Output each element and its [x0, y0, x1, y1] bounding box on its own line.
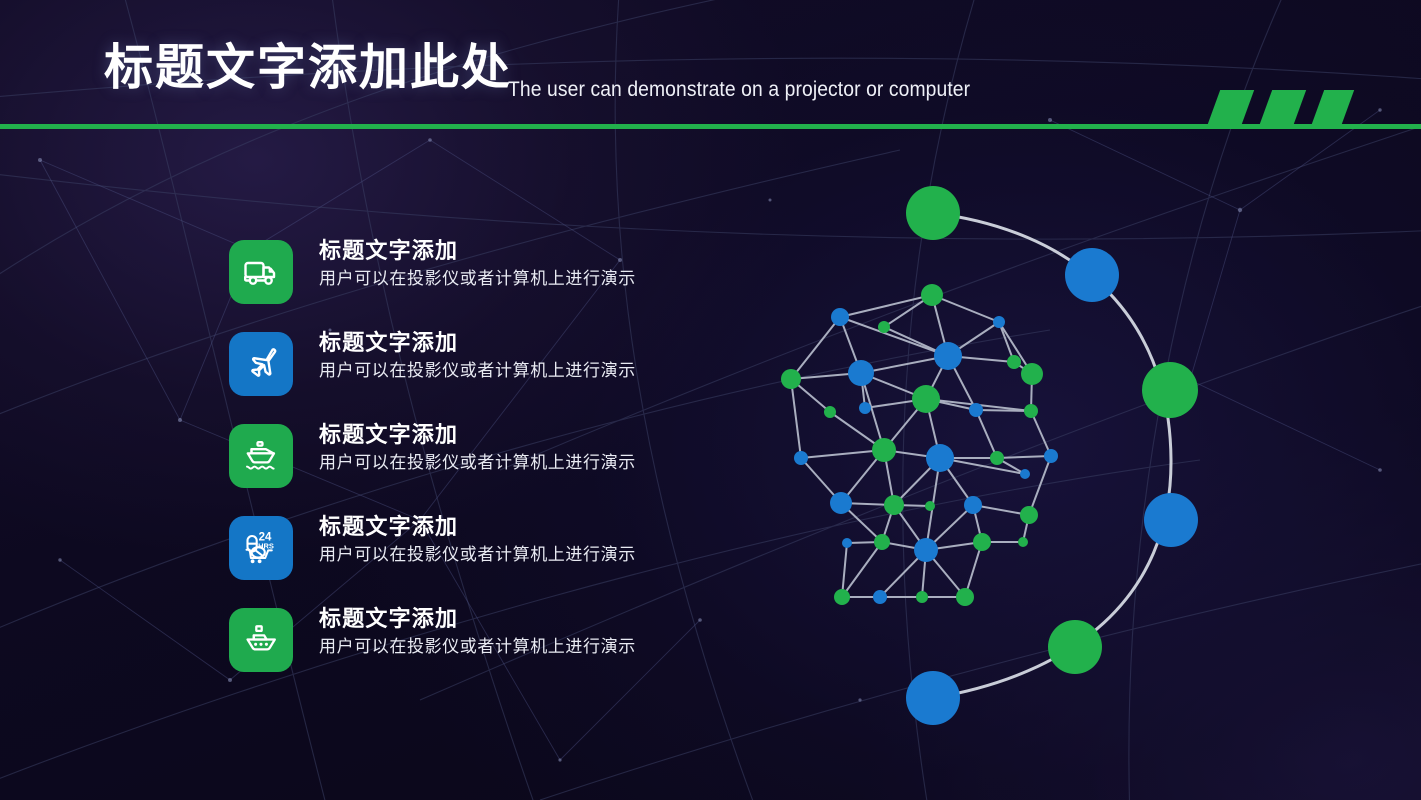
- cargo-ship-icon: [229, 424, 293, 488]
- network-mesh-diagram: [770, 160, 1250, 740]
- feature-description: 用户可以在投影仪或者计算机上进行演示: [319, 358, 749, 384]
- stripe-1: [1208, 90, 1254, 124]
- feature-text: 标题文字添加 用户可以在投影仪或者计算机上进行演示: [319, 420, 749, 476]
- feature-text: 标题文字添加 用户可以在投影仪或者计算机上进行演示: [319, 604, 749, 660]
- feature-description: 用户可以在投影仪或者计算机上进行演示: [319, 542, 749, 568]
- feature-description: 用户可以在投影仪或者计算机上进行演示: [319, 634, 749, 660]
- mesh-nodes: [781, 284, 1058, 606]
- feature-title: 标题文字添加: [319, 328, 749, 358]
- list-item[interactable]: 标题文字添加 用户可以在投影仪或者计算机上进行演示: [229, 424, 749, 488]
- delivery-truck-icon: [229, 240, 293, 304]
- stripe-2: [1260, 90, 1306, 124]
- list-item[interactable]: 标题文字添加 用户可以在投影仪或者计算机上进行演示: [229, 240, 749, 304]
- stripe-3: [1312, 90, 1354, 124]
- page-title: 标题文字添加此处: [104, 44, 512, 93]
- list-item[interactable]: 标题文字添加 用户可以在投影仪或者计算机上进行演示: [229, 608, 749, 672]
- airplane-icon: [229, 332, 293, 396]
- feature-text: 标题文字添加 用户可以在投影仪或者计算机上进行演示: [319, 328, 749, 384]
- list-item[interactable]: 24 HRS 标题文字添加 用户可以在投影仪或者计算机上进行演示: [229, 516, 749, 580]
- feature-text: 标题文字添加 用户可以在投影仪或者计算机上进行演示: [319, 512, 749, 568]
- presentation-slide: 标题文字添加此处 The user can demonstrate on a p…: [0, 0, 1421, 800]
- badge-hrs-text: HRS: [258, 542, 274, 551]
- header-stripes-decoration: [1214, 90, 1374, 124]
- feature-text: 标题文字添加 用户可以在投影仪或者计算机上进行演示: [319, 236, 749, 292]
- header-divider: [0, 124, 1421, 129]
- feature-title: 标题文字添加: [319, 236, 749, 266]
- feature-title: 标题文字添加: [319, 604, 749, 634]
- list-item[interactable]: 标题文字添加 用户可以在投影仪或者计算机上进行演示: [229, 332, 749, 396]
- feature-title: 标题文字添加: [319, 420, 749, 450]
- feature-title: 标题文字添加: [319, 512, 749, 542]
- 24hrs-pharmacy-cart-icon: 24 HRS: [229, 516, 293, 580]
- page-subtitle: The user can demonstrate on a projector …: [508, 78, 970, 102]
- feature-description: 用户可以在投影仪或者计算机上进行演示: [319, 450, 749, 476]
- feature-description: 用户可以在投影仪或者计算机上进行演示: [319, 266, 749, 292]
- feature-list: 标题文字添加 用户可以在投影仪或者计算机上进行演示 标题文字添加 用户可以在投影…: [229, 240, 749, 700]
- boat-icon: [229, 608, 293, 672]
- slide-header: 标题文字添加此处 The user can demonstrate on a p…: [0, 0, 1421, 126]
